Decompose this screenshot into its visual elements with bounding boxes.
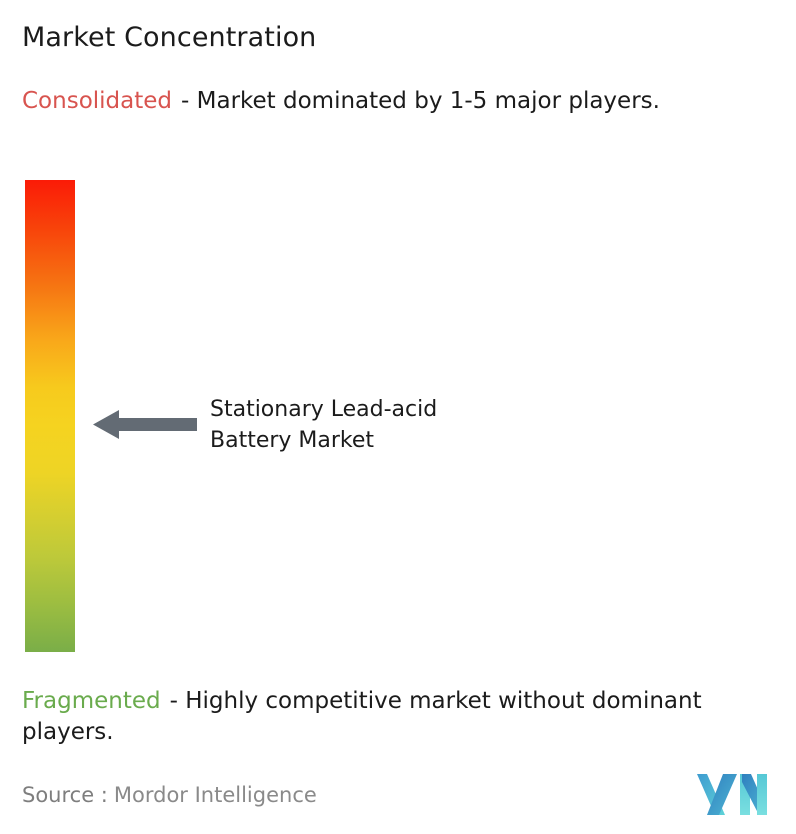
market-pointer-label: Stationary Lead-acid Battery Market	[210, 394, 437, 456]
legend-fragmented: Fragmented- Highly competitive market wi…	[22, 686, 792, 748]
legend-fragmented-tag: Fragmented	[22, 688, 161, 714]
source-label: Source :	[22, 783, 108, 807]
page-title: Market Concentration	[22, 21, 316, 55]
legend-consolidated: Consolidated- Market dominated by 1-5 ma…	[22, 86, 778, 117]
source-name: Mordor Intelligence	[114, 783, 317, 807]
market-pointer-label-line1: Stationary Lead-acid	[210, 394, 437, 425]
market-pointer-label-line2: Battery Market	[210, 425, 437, 456]
legend-consolidated-tag: Consolidated	[22, 88, 172, 114]
legend-consolidated-description: - Market dominated by 1-5 major players.	[181, 88, 660, 114]
concentration-scale-bar	[25, 180, 75, 652]
mordor-intelligence-logo-icon	[697, 772, 767, 817]
source-line: Source :Mordor Intelligence	[22, 781, 317, 809]
market-concentration-figure: Market Concentration Consolidated- Marke…	[0, 0, 796, 834]
market-pointer-arrow	[93, 408, 197, 441]
